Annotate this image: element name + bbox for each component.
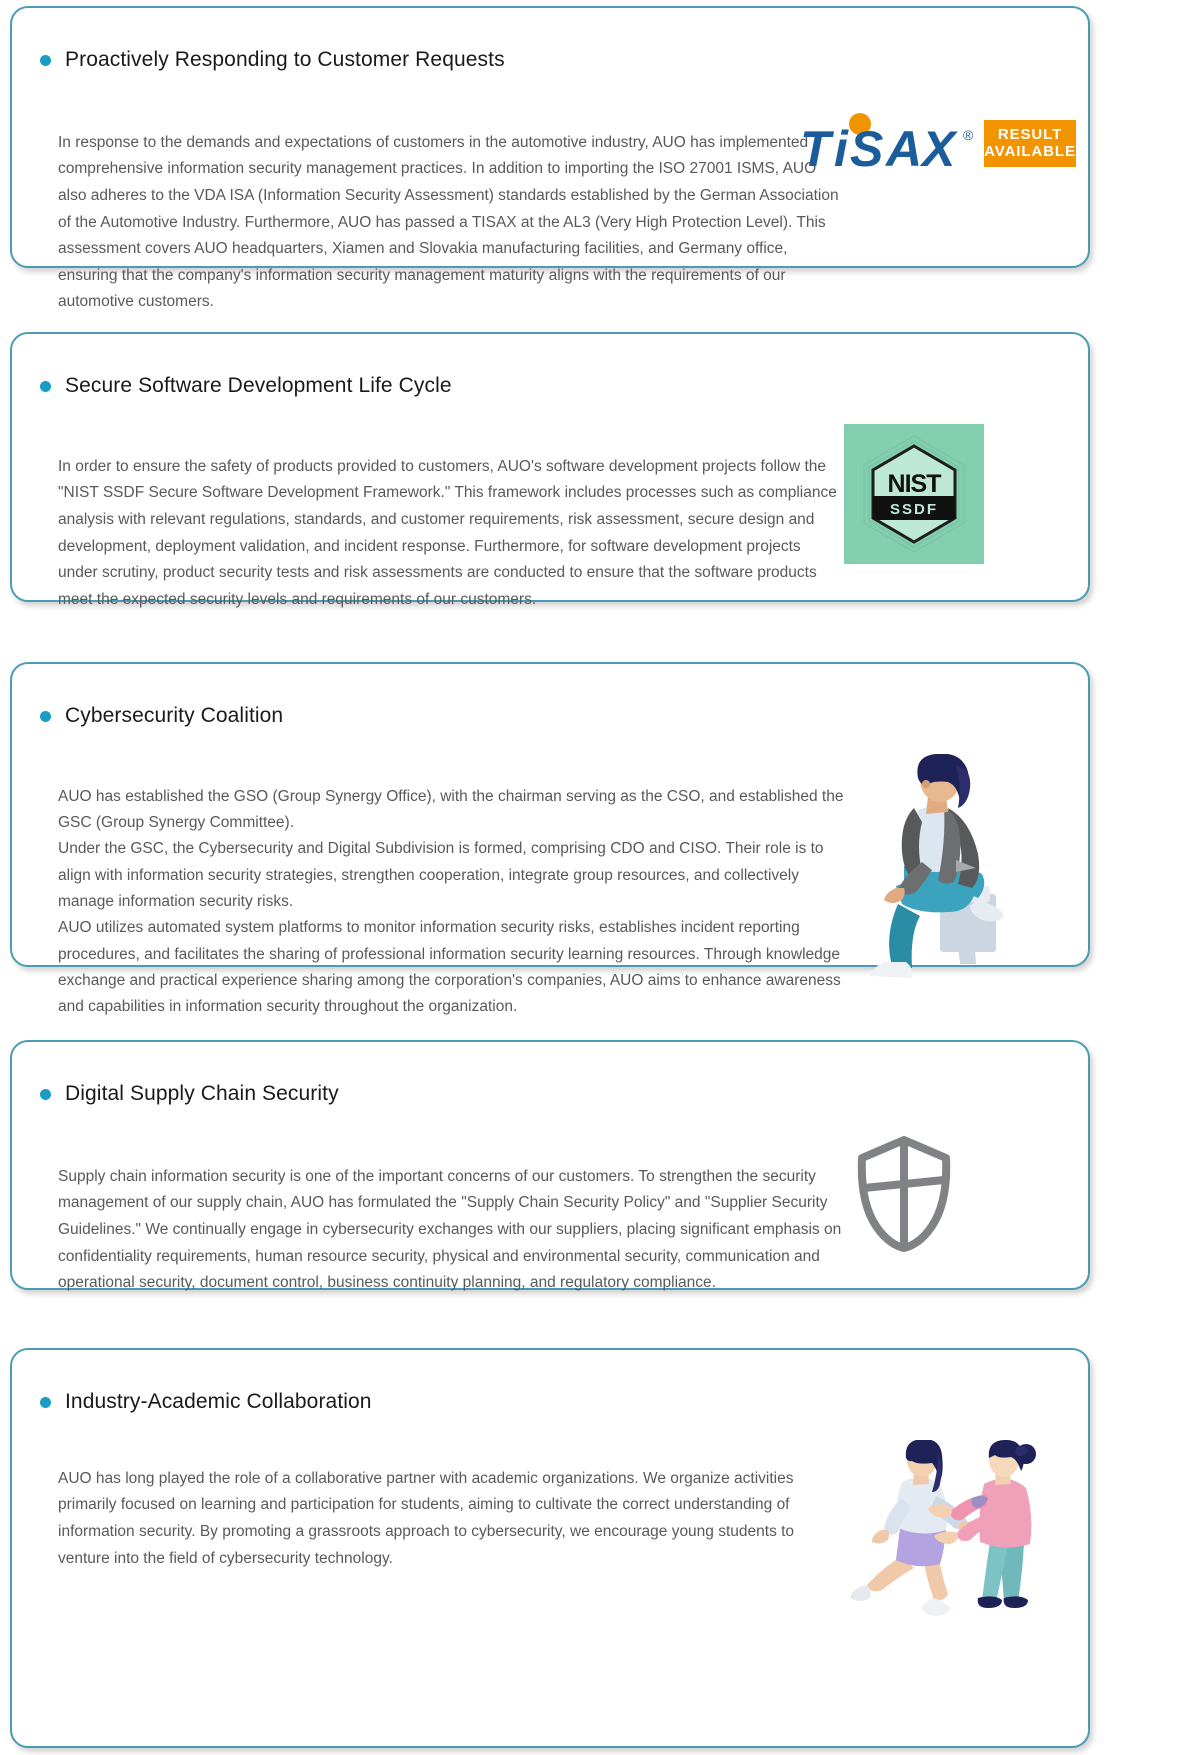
card-paragraph: In order to ensure the safety of product… [34,440,844,614]
two-people-svg [844,1440,1044,1630]
card-body: AUO has long played the role of a collab… [34,1440,1062,1722]
card-inner: Secure Software Development Life Cycle I… [12,334,1088,600]
card-cybersecurity-coalition: Cybersecurity Coalition AUO has establis… [10,662,1090,967]
tisax-result-banner: RESULT AVAILABLE [984,120,1076,167]
card-paragraph: In response to the demands and expectati… [34,114,844,317]
card-body: In response to the demands and expectati… [34,98,1062,332]
svg-text:T: T [800,121,835,174]
card-digital-supply-chain: Digital Supply Chain Security Supply cha… [10,1040,1090,1290]
bullet-icon [40,1397,51,1408]
tisax-wordmark: T i S A X ® [798,112,984,172]
tisax-wordmark-svg: T i S A X ® [798,112,984,174]
shield-icon [844,1132,964,1256]
two-people-illustration [844,1440,1044,1630]
card-inner: Cybersecurity Coalition AUO has establis… [12,664,1088,965]
tisax-logo: T i S A X ® RESULT AVAILABLE [844,112,1030,172]
card-title: Secure Software Development Life Cycle [65,373,452,398]
bullet-icon [40,381,51,392]
svg-text:S: S [850,121,883,174]
nist-ssdf-badge-svg: NIST SSDF [844,424,984,564]
card-paragraph: Supply chain information security is one… [34,1148,844,1297]
card-header: Cybersecurity Coalition [34,686,1062,746]
card-header: Industry-Academic Collaboration [34,1372,1062,1432]
seated-person-illustration [844,754,1034,994]
ssdf-label: SSDF [890,501,938,518]
card-paragraph: AUO has long played the role of a collab… [34,1456,844,1573]
card-title: Proactively Responding to Customer Reque… [65,47,505,72]
nist-ssdf-badge: NIST SSDF [844,424,984,564]
card-industry-academic: Industry-Academic Collaboration AUO has … [10,1348,1090,1748]
page-root: Proactively Responding to Customer Reque… [0,0,1200,1755]
svg-text:A: A [884,121,921,174]
shield-icon-svg [854,1132,954,1256]
card-inner: Proactively Responding to Customer Reque… [12,8,1088,266]
card-inner: Digital Supply Chain Security Supply cha… [12,1042,1088,1288]
card-header: Proactively Responding to Customer Reque… [34,30,1062,90]
nist-label: NIST [888,470,942,498]
card-header: Secure Software Development Life Cycle [34,356,1062,416]
card-header: Digital Supply Chain Security [34,1064,1062,1124]
card-body: Supply chain information security is one… [34,1132,1062,1312]
card-title: Digital Supply Chain Security [65,1081,339,1106]
svg-text:i: i [834,121,849,174]
svg-text:X: X [919,121,958,174]
card-body: In order to ensure the safety of product… [34,424,1062,629]
card-body: AUO has established the GSO (Group Syner… [34,754,1062,1036]
card-paragraph: AUO has established the GSO (Group Syner… [34,770,844,1021]
card-inner: Industry-Academic Collaboration AUO has … [12,1350,1088,1746]
svg-text:®: ® [963,127,974,143]
card-title: Cybersecurity Coalition [65,703,283,728]
seated-person-svg [844,754,1034,994]
bullet-icon [40,1089,51,1100]
card-secure-sdlc: Secure Software Development Life Cycle I… [10,332,1090,602]
card-proactively-responding: Proactively Responding to Customer Reque… [10,6,1090,268]
bullet-icon [40,711,51,722]
card-title: Industry-Academic Collaboration [65,1389,372,1414]
bullet-icon [40,55,51,66]
